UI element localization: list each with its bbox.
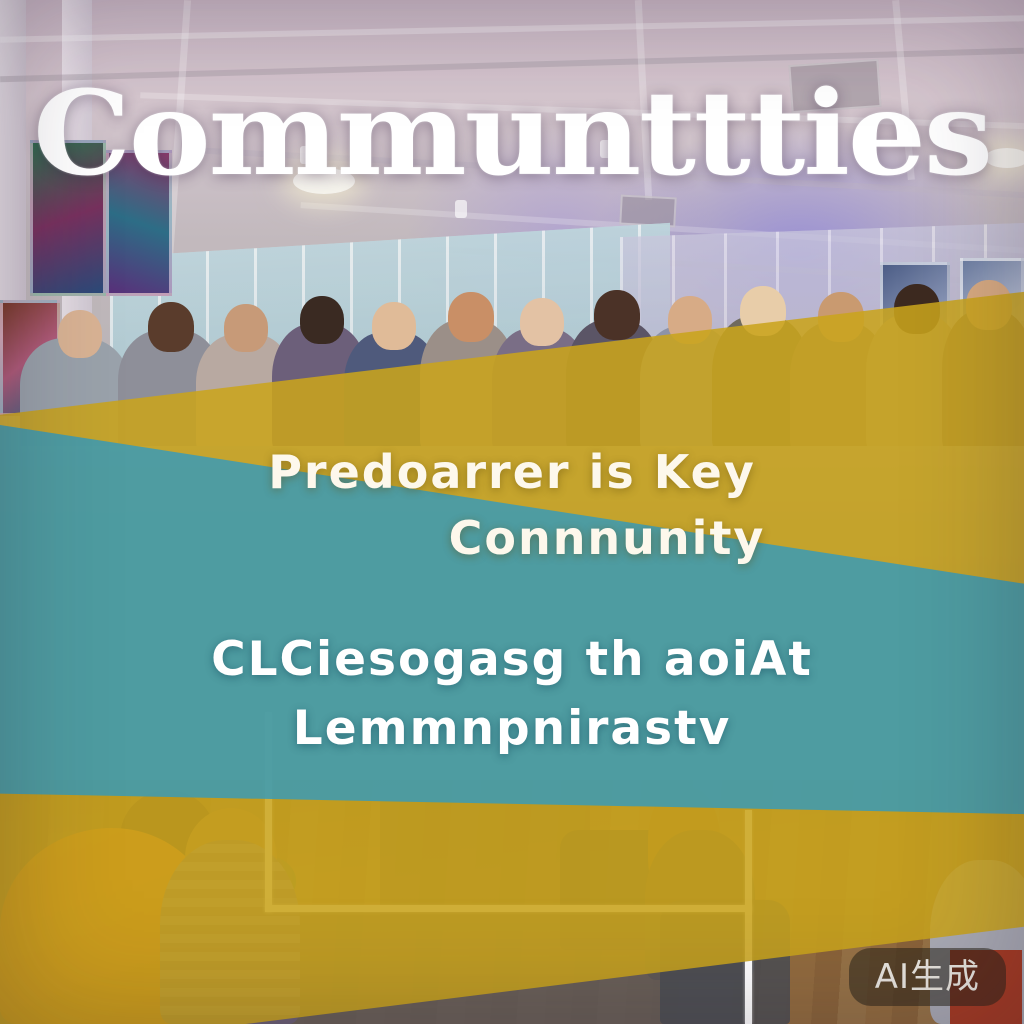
- subhead-line-2: Lemmnpnirastv: [0, 701, 1024, 756]
- subhead-block: CLCiesogasg th aoiAt Lemmnpnirastv: [0, 632, 1024, 756]
- ai-generated-badge: AI生成: [849, 948, 1006, 1006]
- subhead-line-1: CLCiesogasg th aoiAt: [211, 632, 813, 687]
- headline-line-1: Predoarrer is Key: [268, 445, 756, 499]
- headline-block: Predoarrer is Key Connnunity: [0, 445, 1024, 565]
- track-spotlight: [455, 200, 467, 218]
- poster-canvas: Communttties Predoarrer is Key Connnunit…: [0, 0, 1024, 1024]
- poster-title: Communttties: [0, 76, 1024, 192]
- headline-line-2: Connnunity: [0, 511, 1024, 565]
- ceiling-beam: [0, 15, 1024, 42]
